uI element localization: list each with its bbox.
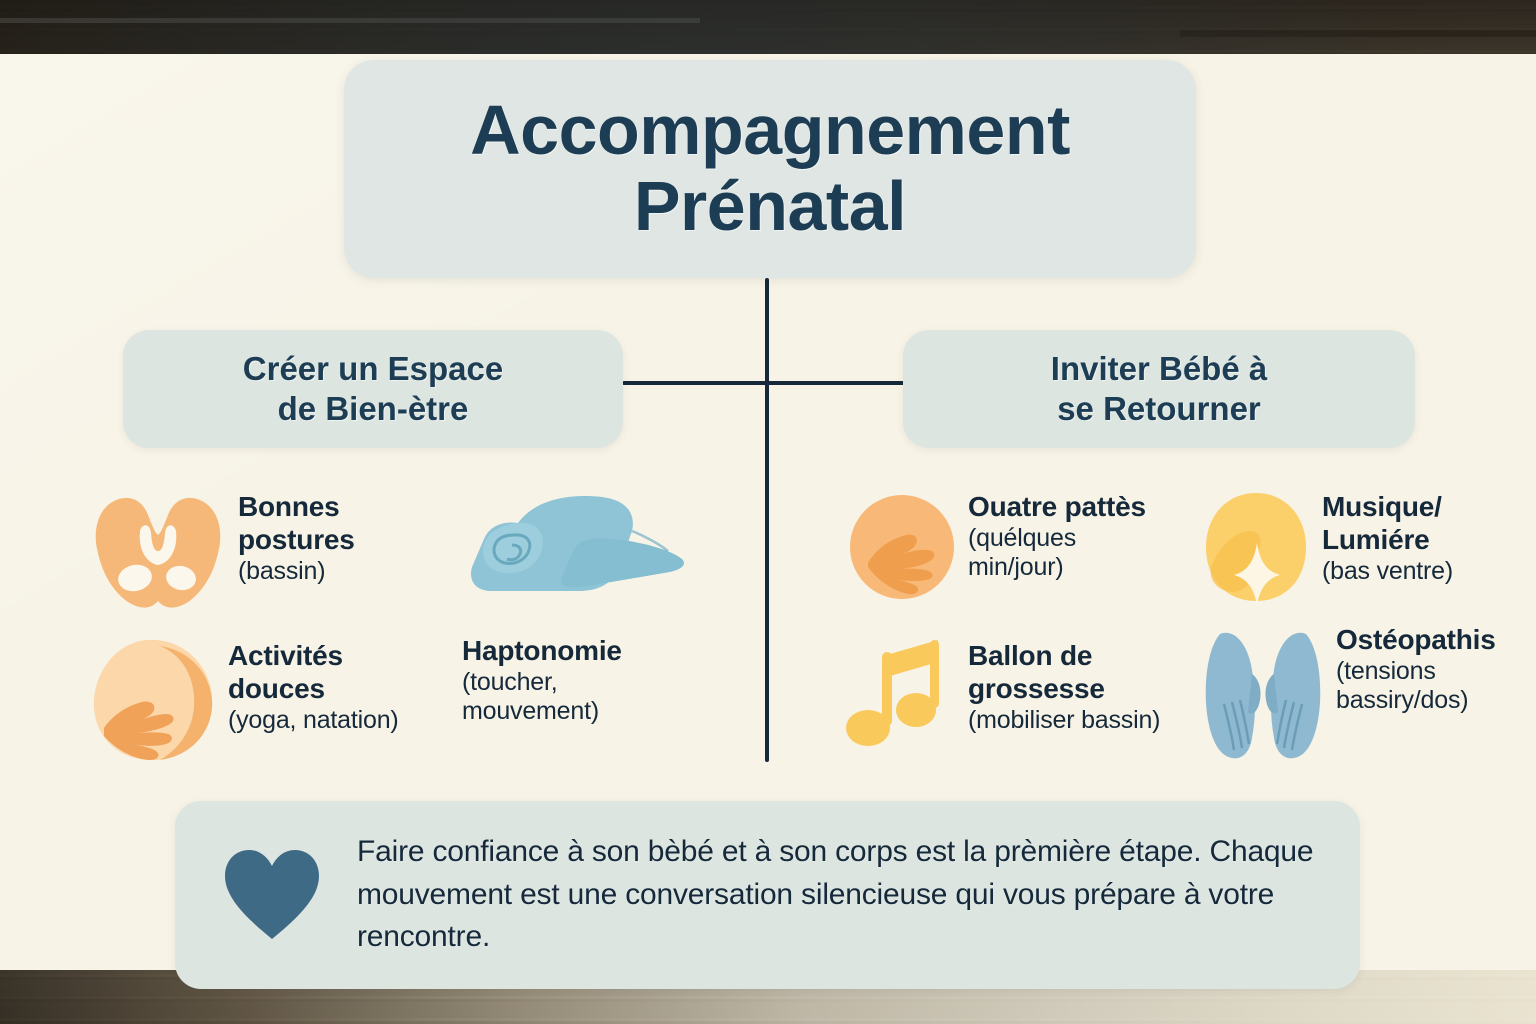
item-title: Bonnes xyxy=(238,491,355,524)
item-title-2: grossesse xyxy=(968,673,1160,706)
item-subtitle-2: bassiry/dos) xyxy=(1336,686,1496,716)
page-title: Accompagnement Prénatal xyxy=(440,93,1100,244)
two-hands-icon xyxy=(1200,620,1326,768)
item-title: Musique/ xyxy=(1322,491,1453,524)
infographic-canvas: Accompagnement Prénatal Créer un Espace … xyxy=(0,0,1536,1024)
page-title-line1: Accompagnement xyxy=(470,93,1070,169)
section-header-left: Créer un Espace de Bien-ètre xyxy=(123,330,623,448)
item-title-2: Lumiére xyxy=(1322,524,1453,557)
list-item-quatre-pattes: Ouatre pattès (quélques min/jour) xyxy=(846,487,1196,609)
item-title: Haptonomie xyxy=(462,635,622,668)
heart-icon xyxy=(221,847,323,943)
item-title: Activités xyxy=(228,640,399,673)
item-title-2: douces xyxy=(228,673,399,706)
item-subtitle-2: mouvement) xyxy=(462,697,622,727)
item-subtitle: (quélques xyxy=(968,524,1146,554)
pelvis-icon xyxy=(88,487,228,619)
music-note-icon xyxy=(846,636,958,762)
list-item-ballon-grossesse: Ballon de grossesse (mobiliser bassin) xyxy=(846,636,1196,762)
light-sparkle-icon xyxy=(1200,487,1312,609)
list-item-bonnes-postures: Bonnes postures (bassin) xyxy=(88,487,448,619)
item-title-2: postures xyxy=(238,524,355,557)
item-subtitle: (bassin) xyxy=(238,557,355,587)
connector-vertical-line xyxy=(765,278,769,762)
title-card: Accompagnement Prénatal xyxy=(344,60,1196,278)
page-title-line2: Prénatal xyxy=(470,169,1070,245)
item-subtitle: (mobiliser bassin) xyxy=(968,706,1160,736)
item-subtitle: (yoga, natation) xyxy=(228,706,399,736)
hand-circle-icon xyxy=(846,487,958,609)
item-subtitle: (toucher, xyxy=(462,668,622,698)
item-title: Ballon de xyxy=(968,640,1160,673)
footer-callout: Faire confiance à son bèbé et à son corp… xyxy=(175,801,1360,989)
list-item-activites-douces: Activités douces (yoga, natation) xyxy=(88,636,448,764)
item-subtitle: (tensions xyxy=(1336,657,1496,687)
item-subtitle: (bas ventre) xyxy=(1322,557,1453,587)
list-item-musique-lumiere: Musique/ Lumiére (bas ventre) xyxy=(1200,487,1530,609)
item-title: Ostéopathis xyxy=(1336,624,1496,657)
list-item-osteopathie: Ostéopathis (tensions bassiry/dos) xyxy=(1200,620,1530,768)
section-header-left-line1: Créer un Espace xyxy=(243,349,503,389)
section-header-right-line2: se Retourner xyxy=(1051,389,1267,429)
section-header-left-line2: de Bien-ètre xyxy=(243,389,503,429)
belly-hand-icon xyxy=(88,636,218,764)
list-item-haptonomie: Haptonomie (toucher, mouvement) xyxy=(462,487,762,727)
connector-horizontal-line xyxy=(622,381,914,385)
section-header-right: Inviter Bébé à se Retourner xyxy=(903,330,1415,448)
item-subtitle-2: min/jour) xyxy=(968,553,1146,583)
item-title: Ouatre pattès xyxy=(968,491,1146,524)
yoga-mat-icon xyxy=(462,487,692,627)
section-header-right-line1: Inviter Bébé à xyxy=(1051,349,1267,389)
footer-text: Faire confiance à son bèbé et à son corp… xyxy=(357,831,1314,959)
